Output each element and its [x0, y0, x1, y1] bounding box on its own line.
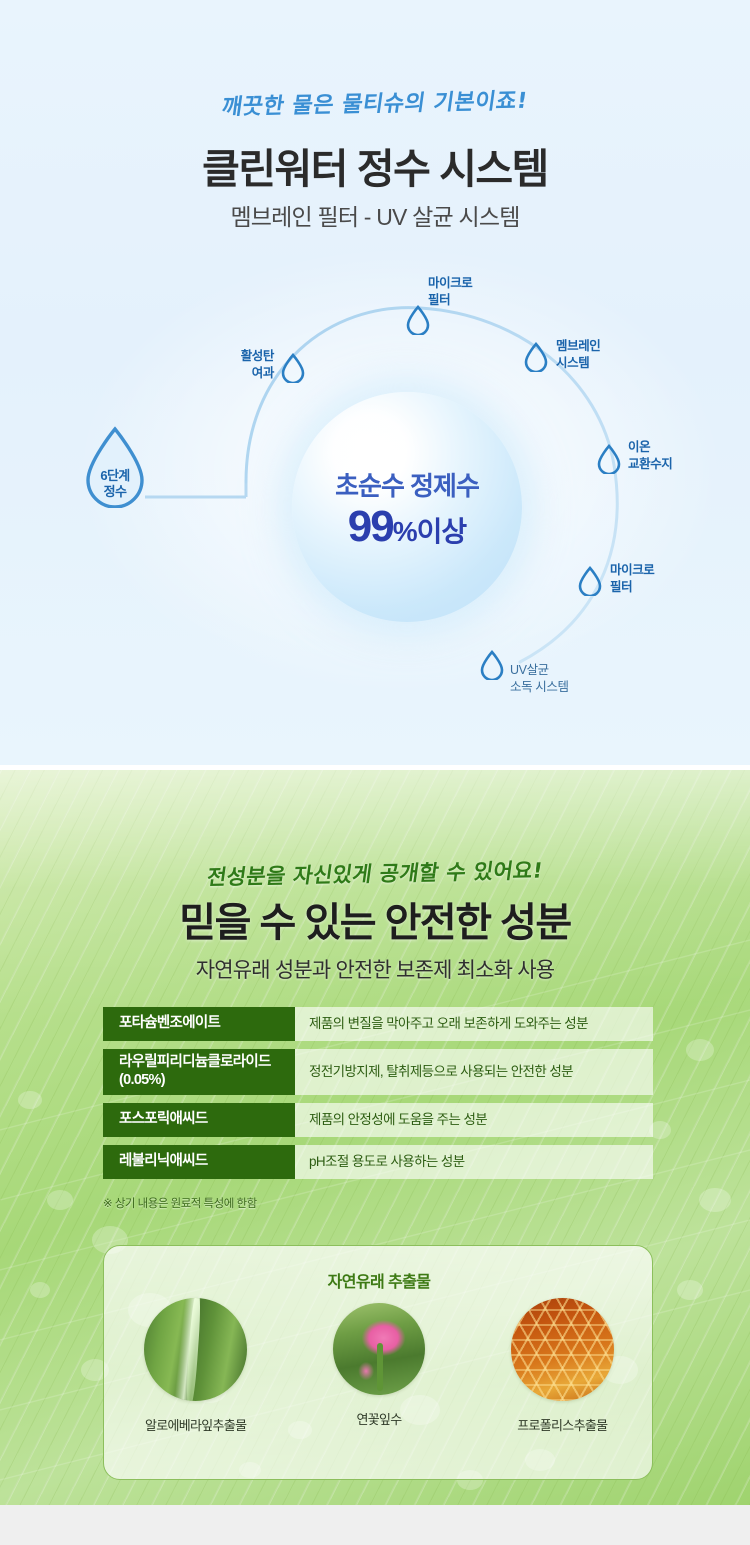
purity-label: 초순수 정제수: [335, 466, 479, 503]
ingredient-table: 포타슘벤조에이트 제품의 변질을 막아주고 오래 보존하게 도와주는 성분 라우…: [103, 1007, 653, 1187]
ingredient-desc-cell: 제품의 안정성에 도움을 주는 성분: [295, 1103, 653, 1137]
ingredient-name-subtext: (0.05%): [119, 1072, 295, 1090]
stage-droplet-icon-1: [281, 353, 305, 383]
stage-label-4-line1: 이온: [628, 439, 672, 456]
green-section-title: 믿을 수 있는 안전한 성분: [0, 890, 750, 948]
ingredient-footnote: ※ 상기 내용은 원료적 특성에 한함: [103, 1195, 257, 1211]
ingredient-name-text: 포스포릭애씨드: [119, 1111, 295, 1129]
ingredient-desc-cell: 제품의 변질을 막아주고 오래 보존하게 도와주는 성분: [295, 1007, 653, 1041]
green-section-subtitle: 자연유래 성분과 안전한 보존제 최소화 사용: [0, 954, 750, 984]
lotus-photo: [333, 1303, 425, 1395]
list-item: 프로폴리스추출물: [487, 1298, 637, 1434]
stage-droplet-icon-6: [480, 650, 504, 680]
percent-symbol: %: [393, 516, 417, 547]
extracts-title: 자연유래 추출물: [104, 1268, 654, 1292]
stage-label-5-line1: 마이크로: [610, 562, 654, 579]
stage-label-5-line2: 필터: [610, 579, 654, 596]
table-row: 포스포릭애씨드 제품의 안정성에 도움을 주는 성분: [103, 1103, 653, 1137]
table-row: 라우릴피리디늄클로라이드 (0.05%) 정전기방지제, 탈취제등으로 사용되는…: [103, 1049, 653, 1095]
extract-label: 프로폴리스추출물: [517, 1415, 607, 1434]
ingredient-desc-cell: pH조절 용도로 사용하는 성분: [295, 1145, 653, 1179]
extracts-list: 알로에베라잎추출물 연꽃잎수 프로폴리스추출물: [104, 1298, 654, 1434]
stage-label-6: UV살균 소독 시스템: [510, 662, 569, 695]
stage-label-1: 활성탄 여과: [228, 348, 274, 381]
water-handwritten-tagline: 깨끗한 물은 물티슈의 기본이죠!: [0, 78, 750, 126]
water-section-subtitle: 멤브레인 필터 - UV 살균 시스템: [0, 198, 750, 232]
ingredient-name-cell: 라우릴피리디늄클로라이드 (0.05%): [103, 1049, 295, 1095]
honeycomb-photo: [511, 1298, 614, 1401]
extract-label: 연꽃잎수: [356, 1409, 401, 1428]
entry-droplet-label-line1: 6단계: [84, 468, 146, 484]
aloe-photo: [144, 1298, 247, 1401]
ingredient-name-cell: 포스포릭애씨드: [103, 1103, 295, 1137]
stage-label-2-line2: 필터: [428, 292, 472, 309]
stage-label-2-line1: 마이크로: [428, 275, 472, 292]
ingredient-name-cell: 포타슘벤조에이트: [103, 1007, 295, 1041]
stage-label-3-line2: 시스템: [556, 355, 600, 372]
stage-droplet-icon-3: [524, 342, 548, 372]
list-item: 알로에베라잎추출물: [121, 1298, 271, 1434]
water-section-title: 클린워터 정수 시스템: [0, 135, 750, 195]
stage-label-1-line1: 활성탄: [228, 348, 274, 365]
extract-label: 알로에베라잎추출물: [145, 1415, 246, 1434]
page-footer-strip: [0, 1505, 750, 1545]
table-row: 포타슘벤조에이트 제품의 변질을 막아주고 오래 보존하게 도와주는 성분: [103, 1007, 653, 1041]
ingredient-name-text: 라우릴피리디늄클로라이드: [119, 1054, 295, 1072]
stage-label-2: 마이크로 필터: [428, 275, 472, 308]
safe-ingredients-section: 전성분을 자신있게 공개할 수 있어요! 믿을 수 있는 안전한 성분 자연유래…: [0, 770, 750, 1505]
stage-label-6-line2: 소독 시스템: [510, 679, 569, 696]
stage-label-4-line2: 교환수지: [628, 456, 672, 473]
entry-droplet-label: 6단계 정수: [84, 468, 146, 501]
purity-number: 99: [348, 502, 393, 551]
clean-water-system-section: 깨끗한 물은 물티슈의 기본이죠! 클린워터 정수 시스템 멤브레인 필터 - …: [0, 0, 750, 765]
ingredient-name-cell: 레불리닉애씨드: [103, 1145, 295, 1179]
ingredient-desc-cell: 정전기방지제, 탈취제등으로 사용되는 안전한 성분: [295, 1049, 653, 1095]
purity-suffix: 이상: [417, 516, 467, 547]
purification-flow-diagram: 초순수 정제수 99%이상 6단계 정수 활성탄 여과 마이크로 필터: [0, 250, 750, 730]
ingredient-name-text: 레불리닉애씨드: [119, 1153, 295, 1171]
stage-droplet-icon-5: [578, 566, 602, 596]
stage-droplet-icon-2: [406, 305, 430, 335]
ingredient-name-text: 포타슘벤조에이트: [119, 1015, 295, 1033]
purity-value: 99%이상: [348, 505, 466, 549]
stage-label-1-line2: 여과: [228, 365, 274, 382]
stage-label-4: 이온 교환수지: [628, 439, 672, 472]
stage-label-3-line1: 멤브레인: [556, 338, 600, 355]
stage-label-6-line1: UV살균: [510, 662, 569, 679]
entry-droplet-label-line2: 정수: [84, 484, 146, 500]
stage-droplet-icon-4: [597, 444, 621, 474]
table-row: 레불리닉애씨드 pH조절 용도로 사용하는 성분: [103, 1145, 653, 1179]
purity-bubble-text: 초순수 정제수 99%이상: [292, 392, 522, 622]
stage-label-5: 마이크로 필터: [610, 562, 654, 595]
natural-extracts-card: 자연유래 추출물 알로에베라잎추출물 연꽃잎수 프로폴리스추출물: [103, 1245, 653, 1480]
list-item: 연꽃잎수: [304, 1298, 454, 1428]
stage-label-3: 멤브레인 시스템: [556, 338, 600, 371]
